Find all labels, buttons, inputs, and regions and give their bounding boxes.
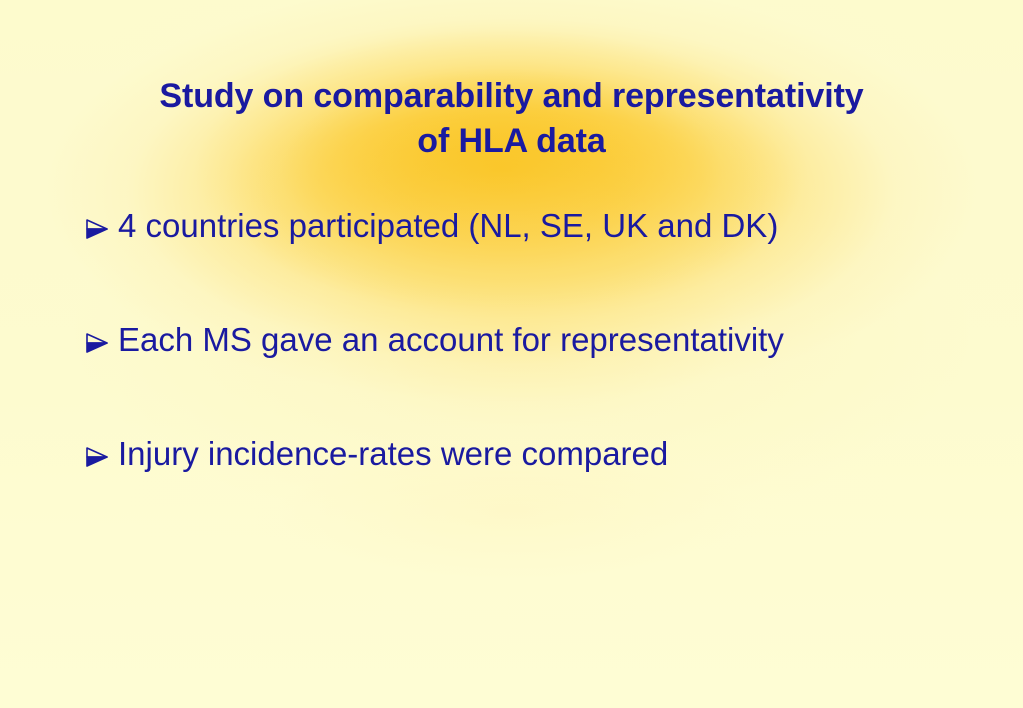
slide-title-line-2: of HLA data xyxy=(60,119,963,164)
slide-title: Study on comparability and representativ… xyxy=(60,74,963,164)
bullet-item-2: Each MS gave an account for representati… xyxy=(84,320,984,377)
bullet-item-2-label: Each MS gave an account for representati… xyxy=(118,320,784,360)
arrowhead-bullet-icon xyxy=(84,206,118,249)
bullet-list: 4 countries participated (NL, SE, UK and… xyxy=(84,206,984,491)
bullet-item-3: Injury incidence-rates were compared xyxy=(84,434,984,491)
slide-canvas: Study on comparability and representativ… xyxy=(0,0,1023,708)
arrowhead-bullet-icon xyxy=(84,434,118,477)
bullet-item-1-label: 4 countries participated (NL, SE, UK and… xyxy=(118,206,778,246)
slide-title-line-1: Study on comparability and representativ… xyxy=(60,74,963,119)
bullet-item-1: 4 countries participated (NL, SE, UK and… xyxy=(84,206,984,263)
bullet-item-3-label: Injury incidence-rates were compared xyxy=(118,434,668,474)
arrowhead-bullet-icon xyxy=(84,320,118,363)
